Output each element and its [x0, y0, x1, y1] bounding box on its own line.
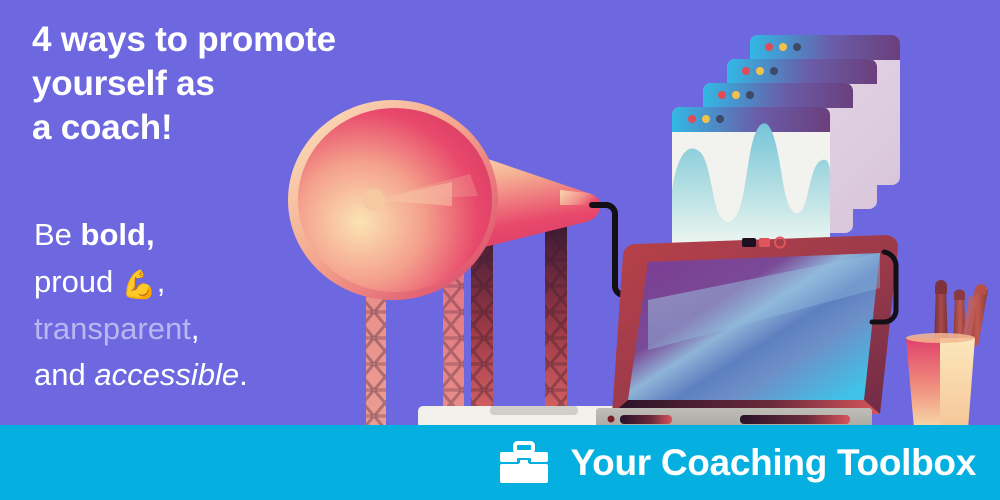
subtext-line-transparent: transparent,: [34, 306, 364, 353]
footer-label: Your Coaching Toolbox: [571, 442, 976, 484]
subtext-3-trailing: ,: [191, 311, 200, 346]
flexed-biceps-icon: 💪: [122, 269, 157, 300]
subtext-4-italic: accessible: [94, 357, 239, 392]
cup-rim: [906, 333, 975, 343]
subtext-2-plain: proud: [34, 264, 122, 299]
tower-4: [545, 205, 567, 430]
subtext-1-plain: Be: [34, 217, 81, 252]
subtext-4-trailing: .: [239, 357, 248, 392]
toolbox-icon: [497, 441, 551, 485]
tower-1: [366, 278, 386, 430]
subtext-line-bold: Be bold,: [34, 212, 364, 259]
subtext-2-trailing: ,: [157, 264, 166, 299]
window-dot-yellow: [702, 115, 710, 123]
window-dot-navy: [716, 115, 724, 123]
headline: 4 ways to promote yourself as a coach!: [32, 18, 432, 150]
headline-line-2: yourself as: [32, 62, 432, 106]
infographic-canvas: 4 ways to promote yourself as a coach! B…: [0, 0, 1000, 500]
subtext-1-bold: bold,: [81, 217, 155, 252]
subtext-3-dim: transparent: [34, 311, 191, 346]
headline-line-1: 4 ways to promote: [32, 18, 432, 62]
megaphone-driver: [363, 189, 385, 211]
laptop-computer: [596, 235, 898, 428]
browser-window-front: [672, 107, 830, 257]
footer-content: Your Coaching Toolbox: [497, 441, 976, 485]
headline-line-3: a coach!: [32, 106, 432, 150]
window-dot-red: [688, 115, 696, 123]
subtext-4-plain: and: [34, 357, 94, 392]
webcam-bar: [742, 238, 756, 247]
subtext-line-accessible: and accessible.: [34, 352, 364, 399]
subtext-line-proud: proud 💪,: [34, 259, 364, 306]
subtext-list: Be bold, proud 💪, transparent, and acces…: [34, 212, 364, 399]
footer-bar: Your Coaching Toolbox: [0, 425, 1000, 500]
